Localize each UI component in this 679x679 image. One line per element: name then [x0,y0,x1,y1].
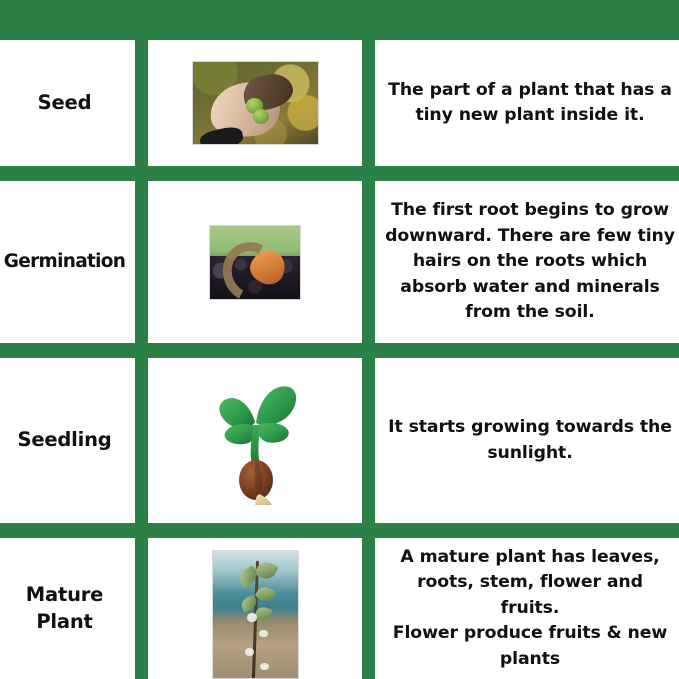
leaf-upper-right-shape [256,386,296,425]
stage-label-germination: Germination [2,250,128,275]
leaf-lower-right-shape [257,422,289,442]
leaf-lower-left-shape [225,424,255,444]
plant-life-cycle-table: Seed The part of a plant that has a tiny… [0,0,679,679]
seedling-illustration [203,377,307,505]
seed-two-shape [253,109,269,125]
stage-label-seed: Seed [36,90,94,116]
table-row-4-image-cell [148,538,362,679]
table-row-3-stage-cell: Seedling [0,358,135,523]
leaf-upper-left-shape [219,397,255,428]
table-row-2-description-cell: The first root begins to grow downward. … [375,181,679,343]
table-row-1-image-cell [148,40,362,166]
plant-flower-1-shape [247,613,256,622]
description-seedling: It starts growing towards the sunlight. [375,415,679,466]
table-row-2-image-cell [148,181,362,343]
table-row-4-description-cell: A mature plant has leaves, roots, stem, … [375,538,679,679]
table-row-1-description-cell: The part of a plant that has a tiny new … [375,40,679,166]
stage-label-seedling: Seedling [15,427,113,453]
sleeve-shape [198,125,244,145]
description-mature-plant: A mature plant has leaves, roots, stem, … [375,545,679,672]
description-seed: The part of a plant that has a tiny new … [375,78,679,129]
plant-flower-4-shape [260,663,269,671]
mature-plant-photo [212,550,299,679]
table-row-2-stage-cell: Germination [0,181,135,343]
plant-flower-2-shape [259,630,268,638]
germinating-seed-photo [209,225,301,300]
hand-holding-seeds-photo [192,61,319,145]
description-germination: The first root begins to grow downward. … [375,198,679,325]
stage-label-mature-plant: Mature Plant [0,582,135,635]
table-row-4-stage-cell: Mature Plant [0,538,135,679]
table-row-1-stage-cell: Seed [0,40,135,166]
table-row-3-description-cell: It starts growing towards the sunlight. [375,358,679,523]
table-row-3-image-cell [148,358,362,523]
